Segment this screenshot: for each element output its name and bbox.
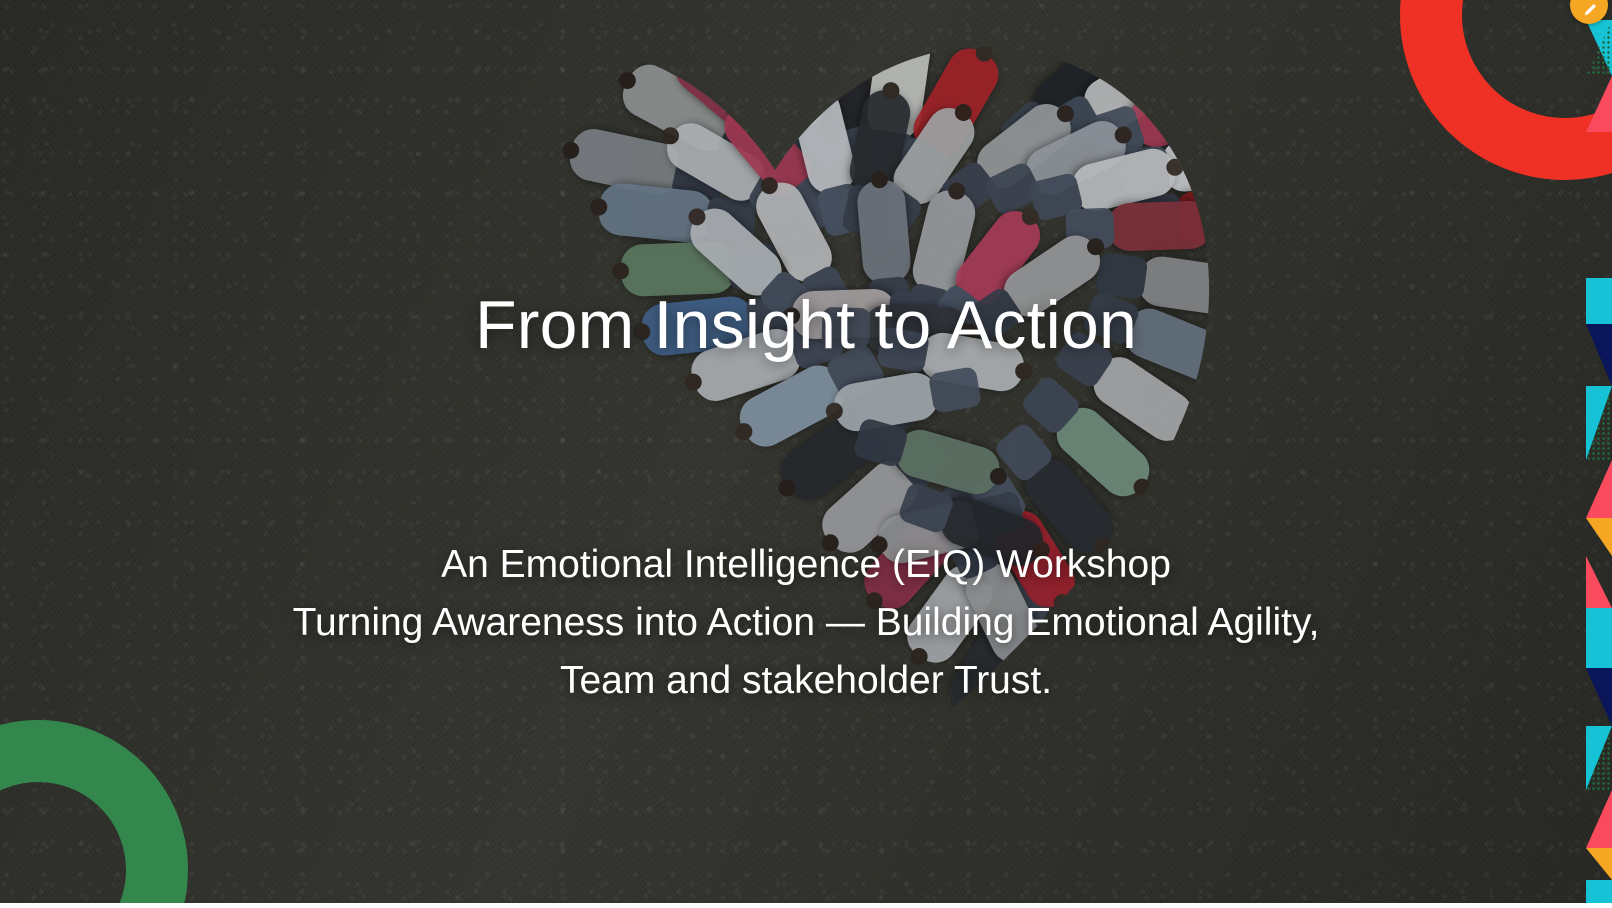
triangle-edge-pattern (1586, 0, 1612, 908)
pattern-triangle (1586, 608, 1612, 668)
pattern-triangle (1586, 556, 1612, 608)
pattern-triangle (1586, 324, 1612, 386)
person-figure (1107, 200, 1213, 252)
heart-of-people-photo (300, 10, 1250, 870)
person-figure (982, 664, 1071, 778)
person-figure (1125, 67, 1248, 153)
person-figure (1022, 781, 1073, 870)
person-figure (856, 178, 913, 286)
pattern-triangle (1586, 518, 1612, 556)
presentation-slide: From Insight to Action An Emotional Inte… (0, 0, 1612, 908)
pattern-triangle (1586, 668, 1612, 726)
pattern-triangle (1586, 460, 1612, 518)
pattern-triangle (1586, 790, 1612, 848)
person-figure (1008, 724, 1075, 833)
pattern-triangle (1586, 848, 1612, 880)
pattern-triangle (1586, 76, 1612, 132)
pattern-triangle (1586, 278, 1612, 324)
pencil-glyph (1581, 2, 1598, 19)
heart-shape-clip (300, 10, 1250, 870)
bottom-white-edge (0, 903, 1612, 908)
